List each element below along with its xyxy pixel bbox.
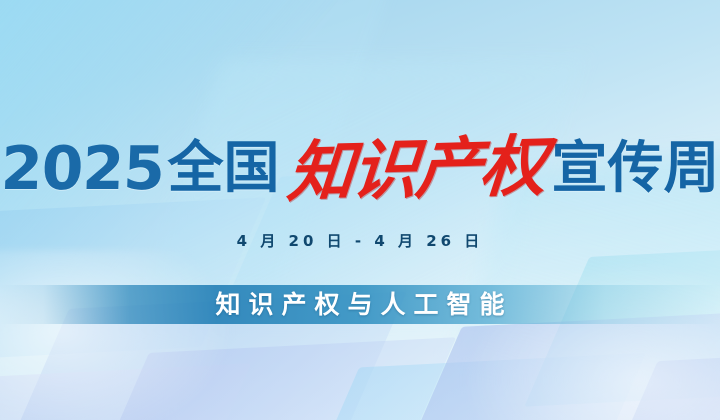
title-year: 2025 (0, 139, 165, 199)
title-ip-calligraphy: 知识产权 (285, 133, 547, 206)
date-range: 4 月 20 日 - 4 月 26 日 (0, 230, 720, 251)
subtitle-band: 知识产权与人工智能 (0, 285, 720, 324)
ip-week-banner: 2025 全国 知识产权 宣传周 4 月 20 日 - 4 月 26 日 知识产… (0, 0, 720, 420)
title-national: 全国 (168, 141, 280, 197)
subtitle-text: 知识产权与人工智能 (207, 292, 512, 317)
date-range-text: 4 月 20 日 - 4 月 26 日 (237, 230, 484, 251)
title-week: 宣传周 (552, 141, 720, 197)
banner-content: 2025 全国 知识产权 宣传周 4 月 20 日 - 4 月 26 日 知识产… (0, 0, 720, 420)
main-title: 2025 全国 知识产权 宣传周 (0, 126, 720, 212)
